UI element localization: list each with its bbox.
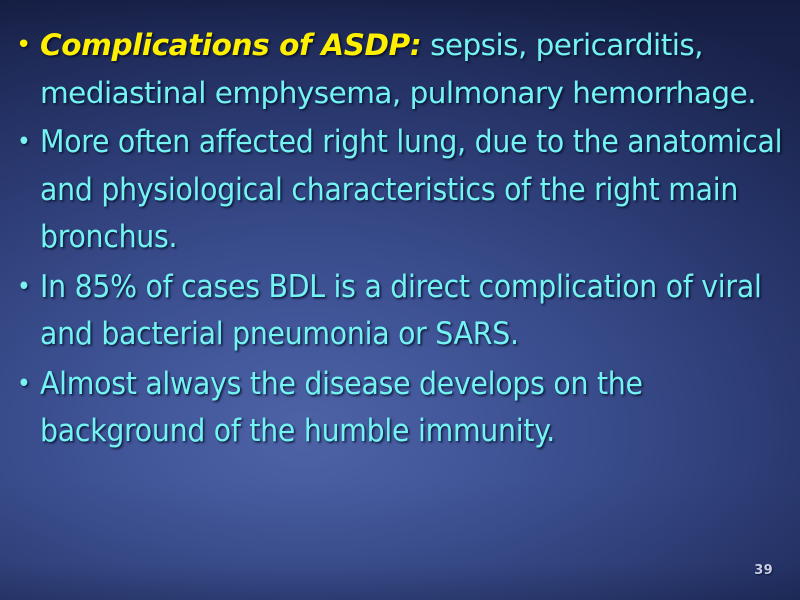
page-number: 39 — [754, 563, 773, 578]
list-item: •In 85% of cases BDL is a direct complic… — [0, 264, 800, 359]
bullet-marker-icon: • — [17, 264, 31, 312]
bullet-body-text: More often affected right lung, due to t… — [40, 124, 782, 255]
bullet-marker-icon: • — [16, 22, 30, 70]
slide-body: •Complications of ASDP: sepsis, pericard… — [0, 22, 800, 458]
bullet-marker-icon: • — [17, 361, 31, 409]
bullet-body-text: In 85% of cases BDL is a direct complica… — [40, 269, 762, 353]
bullet-lead-text: Complications of ASDP: — [40, 28, 421, 62]
bullet-marker-icon: • — [17, 119, 31, 167]
bullet-list: •Complications of ASDP: sepsis, pericard… — [0, 22, 800, 456]
list-item: •Complications of ASDP: sepsis, pericard… — [0, 22, 800, 117]
list-item: •More often affected right lung, due to … — [0, 119, 800, 262]
list-item: •Almost always the disease develops on t… — [0, 361, 800, 456]
bullet-body-text: Almost always the disease develops on th… — [40, 366, 643, 450]
slide-canvas: •Complications of ASDP: sepsis, pericard… — [0, 0, 800, 600]
